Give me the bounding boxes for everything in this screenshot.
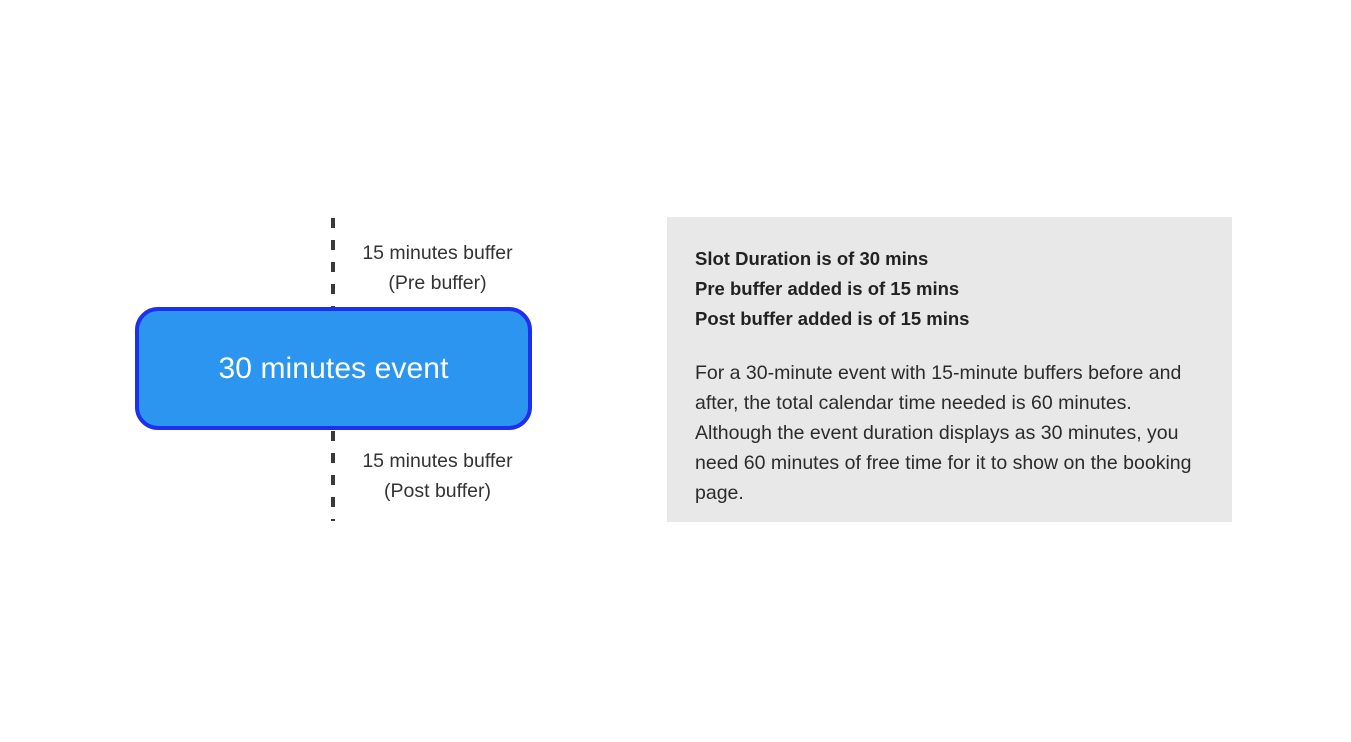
post-buffer-label: 15 minutes buffer (Post buffer) [340,446,535,506]
summary-heading-post-buffer: Post buffer added is of 15 mins [695,304,1204,334]
post-buffer-label-line2: (Post buffer) [340,476,535,506]
buffer-timeline-diagram: 15 minutes buffer (Pre buffer) 30 minute… [0,0,620,742]
pre-buffer-label-line2: (Pre buffer) [340,268,535,298]
explanation-paragraph: For a 30-minute event with 15-minute buf… [695,334,1204,508]
post-buffer-label-line1: 15 minutes buffer [340,446,535,476]
summary-heading-slot-duration: Slot Duration is of 30 mins [695,244,1204,274]
diagram-canvas: 15 minutes buffer (Pre buffer) 30 minute… [0,0,1351,742]
summary-heading-pre-buffer: Pre buffer added is of 15 mins [695,274,1204,304]
event-duration-box: 30 minutes event [135,307,532,430]
pre-buffer-label: 15 minutes buffer (Pre buffer) [340,238,535,298]
explanation-panel: Slot Duration is of 30 mins Pre buffer a… [667,217,1232,522]
post-buffer-dashed-line [331,431,335,521]
pre-buffer-dashed-line [331,218,335,308]
summary-heading-list: Slot Duration is of 30 mins Pre buffer a… [695,244,1204,334]
pre-buffer-label-line1: 15 minutes buffer [340,238,535,268]
event-duration-label: 30 minutes event [218,344,448,394]
